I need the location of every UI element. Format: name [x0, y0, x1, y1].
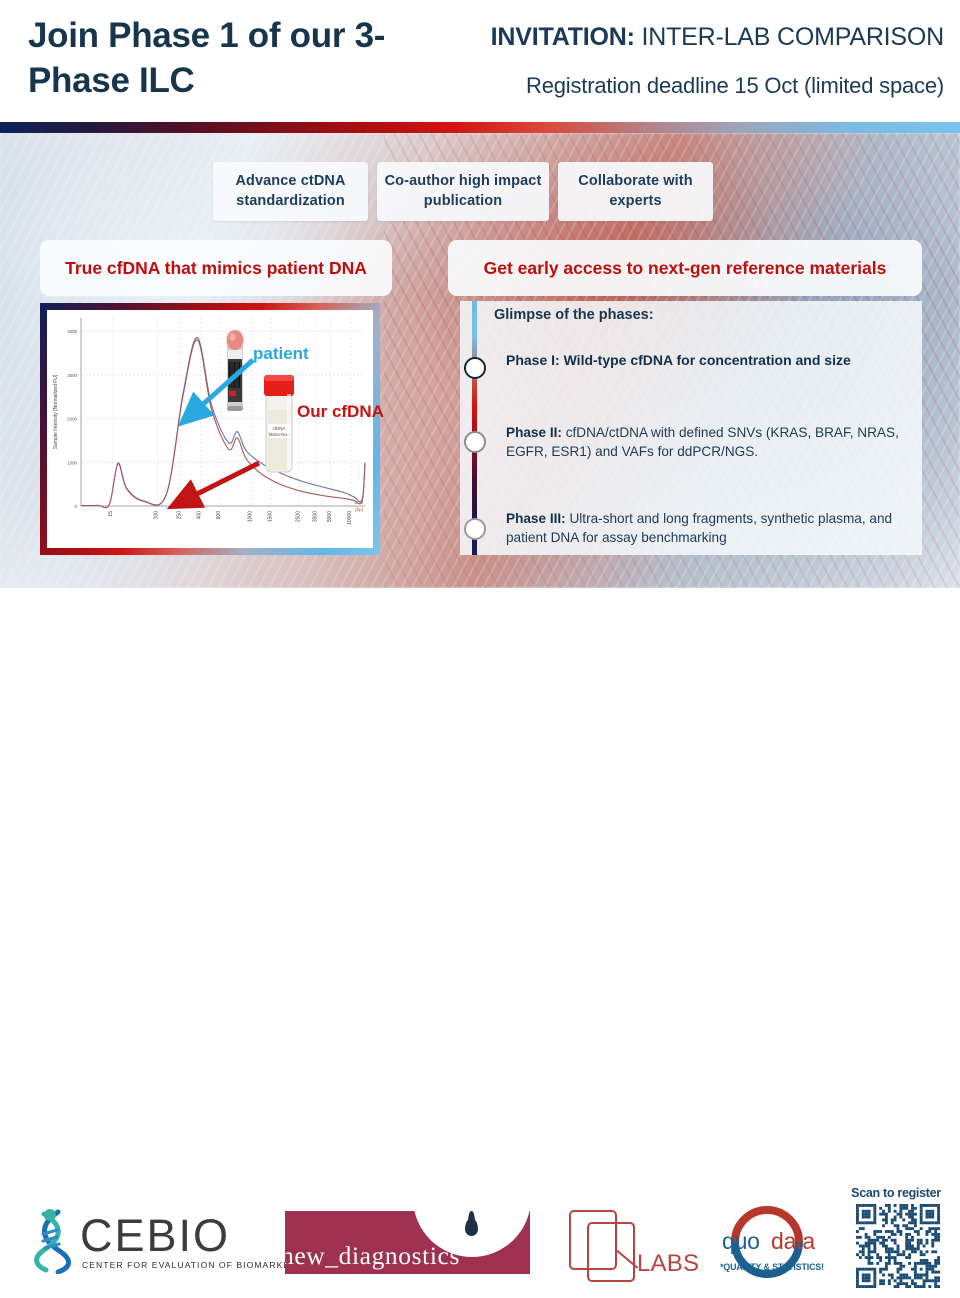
benefit-pill-group: Advance ctDNA standardization Co-author … — [213, 162, 713, 221]
logo-quo-data: quo data *QUALITY & STATISTICS! — [715, 1206, 827, 1278]
our-cfdna-arrow-icon — [159, 458, 269, 522]
svg-text:10000: 10000 — [347, 511, 353, 525]
qr-block[interactable]: Scan to register — [846, 1186, 946, 1298]
svg-text:1000: 1000 — [67, 460, 77, 465]
logo-new-diagnostics: new_diagnostics — [285, 1211, 530, 1274]
svg-text:15: 15 — [108, 511, 114, 517]
svg-text:3000: 3000 — [67, 373, 77, 378]
svg-text:Mono-Nuc: Mono-Nuc — [269, 432, 290, 437]
qr-code-icon[interactable] — [856, 1204, 940, 1288]
electropherogram-chart: Sample Intensity [Normalized FU]Size[bp]… — [47, 310, 373, 548]
benefit-pill-1: Advance ctDNA standardization — [213, 162, 368, 221]
registration-deadline: Registration deadline 15 Oct (limited sp… — [384, 73, 944, 99]
logo-q-labs: LABS — [565, 1206, 690, 1276]
timeline-node-phase-3 — [464, 518, 486, 540]
invitation-line: INVITATION: INTER-LAB COMPARISON — [384, 22, 944, 52]
svg-text:Sample Intensity [Normalized F: Sample Intensity [Normalized FU] — [53, 374, 59, 449]
cebio-wordmark: CEBIO — [80, 1210, 230, 1262]
poster-root: Join Phase 1 of our 3-Phase ILC INVITATI… — [0, 0, 960, 720]
phase-2-text: cfDNA/ctDNA with defined SNVs (KRAS, BRA… — [506, 425, 899, 459]
cebio-tagline: CENTER FOR EVALUATION OF BIOMARKERS — [82, 1260, 304, 1270]
droplet-icon — [465, 1218, 478, 1236]
benefit-pill-3: Collaborate with experts — [558, 162, 713, 221]
qlabs-square-front — [587, 1222, 635, 1282]
phase-1-name: Phase I: — [506, 352, 560, 368]
dna-helix-icon — [24, 1208, 80, 1274]
phase-2-name: Phase II: — [506, 425, 562, 440]
footer: CEBIO CENTER FOR EVALUATION OF BIOMARKER… — [0, 588, 960, 720]
svg-text:2000: 2000 — [67, 417, 77, 422]
qlabs-wordmark: LABS — [637, 1250, 699, 1278]
header: Join Phase 1 of our 3-Phase ILC INVITATI… — [0, 0, 960, 122]
svg-text:5000: 5000 — [327, 511, 333, 522]
svg-text:cfDNA: cfDNA — [273, 426, 286, 431]
quodata-word-data: data — [771, 1228, 815, 1255]
chart-annotation-patient: patient — [253, 344, 309, 364]
svg-text:[bp]: [bp] — [355, 507, 363, 512]
benefit-pill-2: Co-author high impact publication — [377, 162, 549, 221]
phase-item-1: Phase I: Wild-type cfDNA for concentrati… — [506, 351, 912, 371]
newdx-wordmark: new_diagnostics — [285, 1241, 530, 1271]
timeline-node-phase-2 — [464, 431, 486, 453]
svg-text:2500: 2500 — [296, 511, 302, 522]
quodata-word-quo: quo — [722, 1228, 760, 1255]
phase-1-text: Wild-type cfDNA for concentration and si… — [560, 352, 851, 368]
svg-text:4000: 4000 — [67, 329, 77, 334]
svg-text:0: 0 — [75, 504, 78, 509]
timeline-rail — [472, 301, 477, 555]
patient-arrow-icon — [171, 354, 261, 434]
logo-cebio: CEBIO CENTER FOR EVALUATION OF BIOMARKER… — [18, 1206, 268, 1278]
phases-intro: Glimpse of the phases: — [494, 307, 654, 323]
timeline-node-phase-1 — [464, 357, 486, 379]
invitation-label: INVITATION: — [491, 23, 635, 51]
phase-item-2: Phase II: cfDNA/ctDNA with defined SNVs … — [506, 423, 912, 462]
qr-caption: Scan to register — [846, 1186, 946, 1200]
left-panel-title: True cfDNA that mimics patient DNA — [40, 240, 392, 296]
invitation-text: INTER-LAB COMPARISON — [635, 23, 944, 51]
phase-3-name: Phase III: — [506, 511, 566, 526]
page-title: Join Phase 1 of our 3-Phase ILC — [28, 14, 388, 104]
header-right: INVITATION: INTER-LAB COMPARISON Registr… — [384, 22, 944, 99]
phase-item-3: Phase III: Ultra-short and long fragment… — [506, 509, 912, 548]
quodata-tagline: *QUALITY & STATISTICS! — [717, 1262, 827, 1272]
right-panel-title: Get early access to next-gen reference m… — [448, 240, 922, 296]
electropherogram-frame: Sample Intensity [Normalized FU]Size[bp]… — [40, 303, 380, 555]
svg-text:3500: 3500 — [313, 511, 319, 522]
gradient-divider — [0, 122, 960, 133]
chart-annotation-our-cfdna: Our cfDNA — [297, 402, 384, 422]
